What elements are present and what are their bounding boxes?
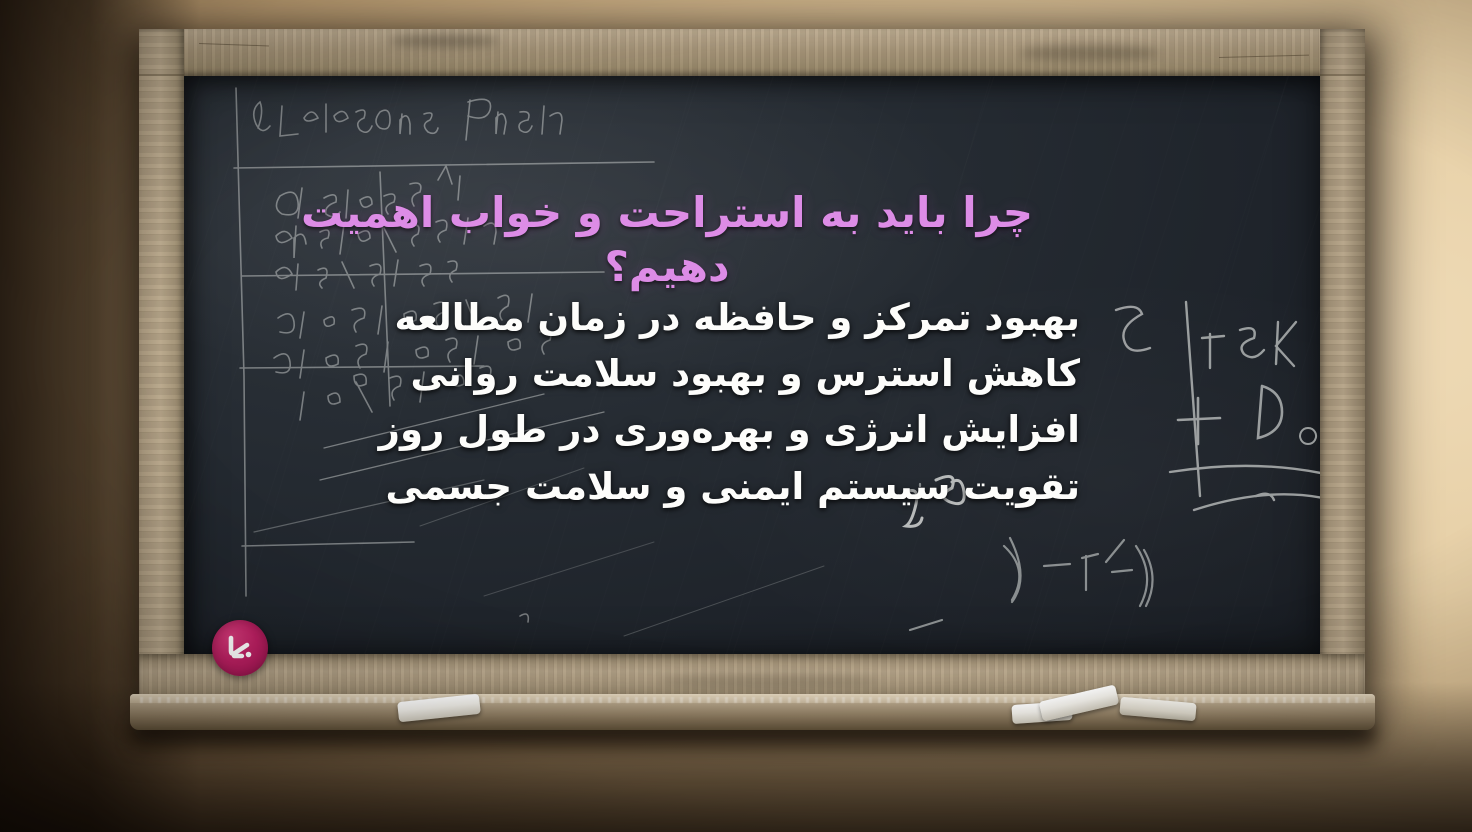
frame-joint — [139, 74, 184, 76]
benefit-line-2: کاهش استرس و بهبود سلامت روانی — [390, 346, 1080, 402]
page-title: چرا باید به استراحت و خواب اهمیت دهیم؟ — [252, 186, 1082, 294]
frame-smudge — [389, 35, 499, 47]
wood-grain-texture — [139, 29, 1365, 76]
benefit-line-4: تقویت سیستم ایمنی و سلامت جسمی — [390, 459, 1080, 515]
brand-logo[interactable] — [212, 620, 268, 676]
frame-smudge — [1019, 45, 1159, 61]
frame-rail-bottom — [139, 654, 1365, 697]
frame-smudge — [659, 674, 879, 688]
frame-rail-top — [139, 29, 1365, 76]
frame-rail-left — [139, 29, 184, 697]
wood-grain-texture — [1320, 29, 1365, 697]
wood-grain-texture — [139, 29, 184, 697]
play-mark-icon — [223, 631, 257, 665]
benefits-list: بهبود تمرکز و حافظه در زمان مطالعه کاهش … — [390, 290, 1080, 515]
benefit-line-3: افزایش انرژی و بهره‌وری در طول روز — [390, 402, 1080, 458]
frame-joint — [1320, 74, 1365, 76]
tray-shadow — [130, 726, 1375, 754]
poster-canvas: چرا باید به استراحت و خواب اهمیت دهیم؟ ب… — [0, 0, 1472, 832]
benefit-line-1: بهبود تمرکز و حافظه در زمان مطالعه — [390, 290, 1080, 346]
frame-rail-right — [1320, 29, 1365, 697]
